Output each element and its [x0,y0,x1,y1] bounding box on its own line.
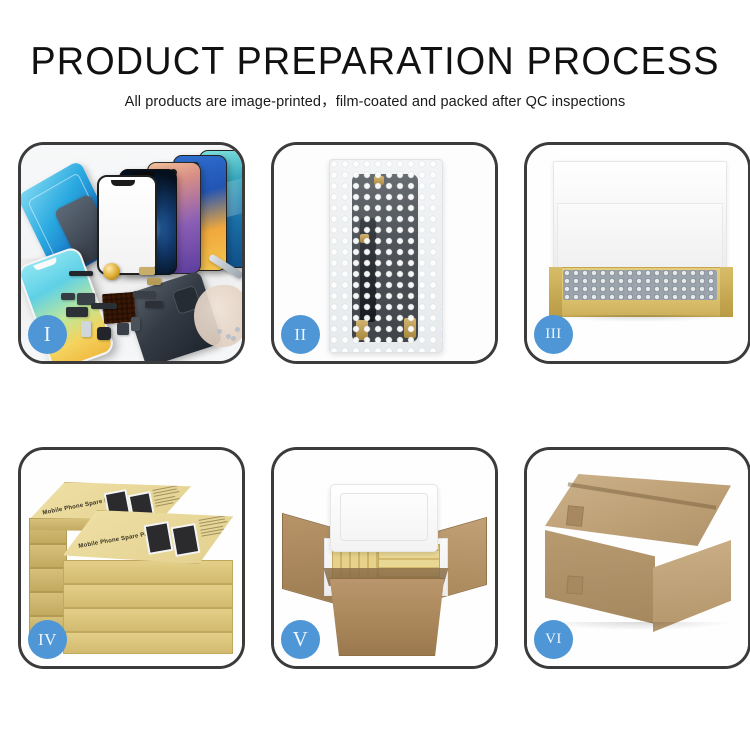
part-icon [66,307,88,317]
part-icon [131,317,140,331]
part-icon [81,321,91,337]
part-icon [91,303,117,309]
tape-strip-icon [566,575,583,594]
bubble-texture [330,160,442,352]
step-card-1: I [18,142,245,364]
panel-frame-1: I [18,142,245,364]
styrofoam-lid-icon [330,484,438,552]
foam-sheet-icon [557,203,723,269]
step-card-4: Mobile Phone Spare Parts Mobile Phone S [18,447,245,669]
screws-icon [217,327,242,341]
step-badge-4: IV [28,620,67,659]
drop-shadow [551,315,729,322]
step-badge-5: V [281,620,320,659]
step-card-6: VI [524,447,750,669]
part-icon [69,271,93,276]
step-badge-3: III [534,315,573,354]
step-badge-1: I [28,315,67,354]
panel-frame-2: II [271,142,498,364]
step-card-5: V [271,447,498,669]
header: PRODUCT PREPARATION PROCESS All products… [0,0,750,120]
speaker-module-icon [103,263,120,280]
screen-protector-icon [97,175,157,275]
page-subtitle: All products are image-printed，film-coat… [0,90,750,111]
page-title: PRODUCT PREPARATION PROCESS [11,40,739,84]
drop-shadow [547,622,729,630]
step-badge-2: II [281,315,320,354]
steps-grid: I II [0,132,750,702]
panel-frame-3: III [524,142,750,364]
part-icon [97,327,111,340]
carton-front-icon [322,578,452,656]
part-icon [61,293,75,300]
panel-frame-4: Mobile Phone Spare Parts Mobile Phone S [18,447,245,669]
bubble-padding-icon [563,270,717,300]
part-icon [133,291,155,298]
part-icon [117,323,129,335]
part-icon [145,301,163,308]
tape-strip-icon [566,505,584,527]
panel-frame-6: VI [524,447,750,669]
step-card-2: II [271,142,498,364]
step-badge-6: VI [534,620,573,659]
product-preparation-infographic: PRODUCT PREPARATION PROCESS All products… [0,0,750,750]
bubble-wrap-bag-icon [329,159,443,353]
panel-frame-5: V [271,447,498,669]
part-icon [147,278,161,285]
step-card-3: III [524,142,750,364]
part-icon [139,267,155,275]
